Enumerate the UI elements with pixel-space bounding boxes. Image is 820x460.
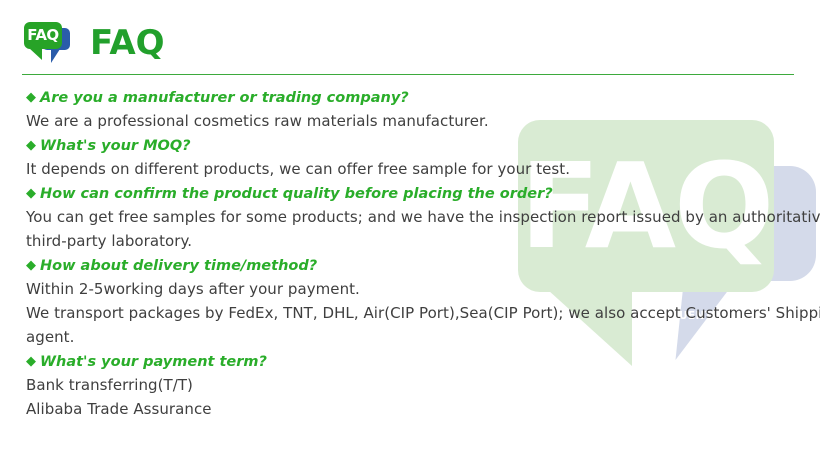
faq-list: ◆Are you a manufacturer or trading compa… bbox=[26, 85, 796, 421]
logo-faq-text: FAQ bbox=[24, 22, 62, 49]
faq-answer-text: agent. bbox=[26, 328, 74, 346]
faq-answer-text: We are a professional cosmetics raw mate… bbox=[26, 112, 489, 130]
faq-answer-row: Alibaba Trade Assurance bbox=[26, 397, 796, 421]
faq-answer-row: We are a professional cosmetics raw mate… bbox=[26, 109, 796, 133]
faq-answer-row: agent. bbox=[26, 325, 796, 349]
faq-answer-row: third-party laboratory. bbox=[26, 229, 796, 253]
faq-answer-text: third-party laboratory. bbox=[26, 232, 192, 250]
diamond-bullet-icon: ◆ bbox=[26, 186, 36, 201]
faq-answer-text: Bank transferring(T/T) bbox=[26, 376, 193, 394]
faq-question-text: What's your MOQ? bbox=[40, 138, 191, 154]
faq-logo-icon: FAQ bbox=[22, 20, 72, 66]
diamond-bullet-icon: ◆ bbox=[26, 138, 36, 153]
page-title: FAQ bbox=[90, 26, 165, 60]
faq-question-text: How can confirm the product quality befo… bbox=[40, 186, 553, 202]
faq-answer-row: We transport packages by FedEx, TNT, DHL… bbox=[26, 301, 796, 325]
faq-question-row: ◆How about delivery time/method? bbox=[26, 253, 796, 277]
header-divider bbox=[22, 74, 794, 75]
page-header: FAQ FAQ bbox=[22, 18, 165, 68]
faq-question-text: What's your payment term? bbox=[40, 354, 267, 370]
faq-question-row: ◆Are you a manufacturer or trading compa… bbox=[26, 85, 796, 109]
faq-question-row: ◆What's your payment term? bbox=[26, 349, 796, 373]
faq-question-text: How about delivery time/method? bbox=[40, 258, 317, 274]
faq-question-row: ◆How can confirm the product quality bef… bbox=[26, 181, 796, 205]
diamond-bullet-icon: ◆ bbox=[26, 90, 36, 105]
faq-answer-row: Within 2-5working days after your paymen… bbox=[26, 277, 796, 301]
diamond-bullet-icon: ◆ bbox=[26, 258, 36, 273]
logo-blue-bubble-tail-icon bbox=[51, 49, 60, 63]
faq-answer-text: Alibaba Trade Assurance bbox=[26, 400, 212, 418]
logo-green-bubble-tail-icon bbox=[29, 48, 42, 60]
faq-answer-row: Bank transferring(T/T) bbox=[26, 373, 796, 397]
faq-answer-text: We transport packages by FedEx, TNT, DHL… bbox=[26, 304, 820, 322]
faq-answer-text: Within 2-5working days after your paymen… bbox=[26, 280, 360, 298]
faq-answer-row: You can get free samples for some produc… bbox=[26, 205, 796, 229]
faq-answer-row: It depends on different products, we can… bbox=[26, 157, 796, 181]
faq-question-text: Are you a manufacturer or trading compan… bbox=[40, 90, 409, 106]
faq-answer-text: You can get free samples for some produc… bbox=[26, 208, 820, 226]
diamond-bullet-icon: ◆ bbox=[26, 354, 36, 369]
faq-question-row: ◆What's your MOQ? bbox=[26, 133, 796, 157]
faq-page: FAQ FREQUENTLY ASKED QUESTIONS FAQ FAQ ◆… bbox=[0, 0, 820, 460]
faq-answer-text: It depends on different products, we can… bbox=[26, 160, 570, 178]
